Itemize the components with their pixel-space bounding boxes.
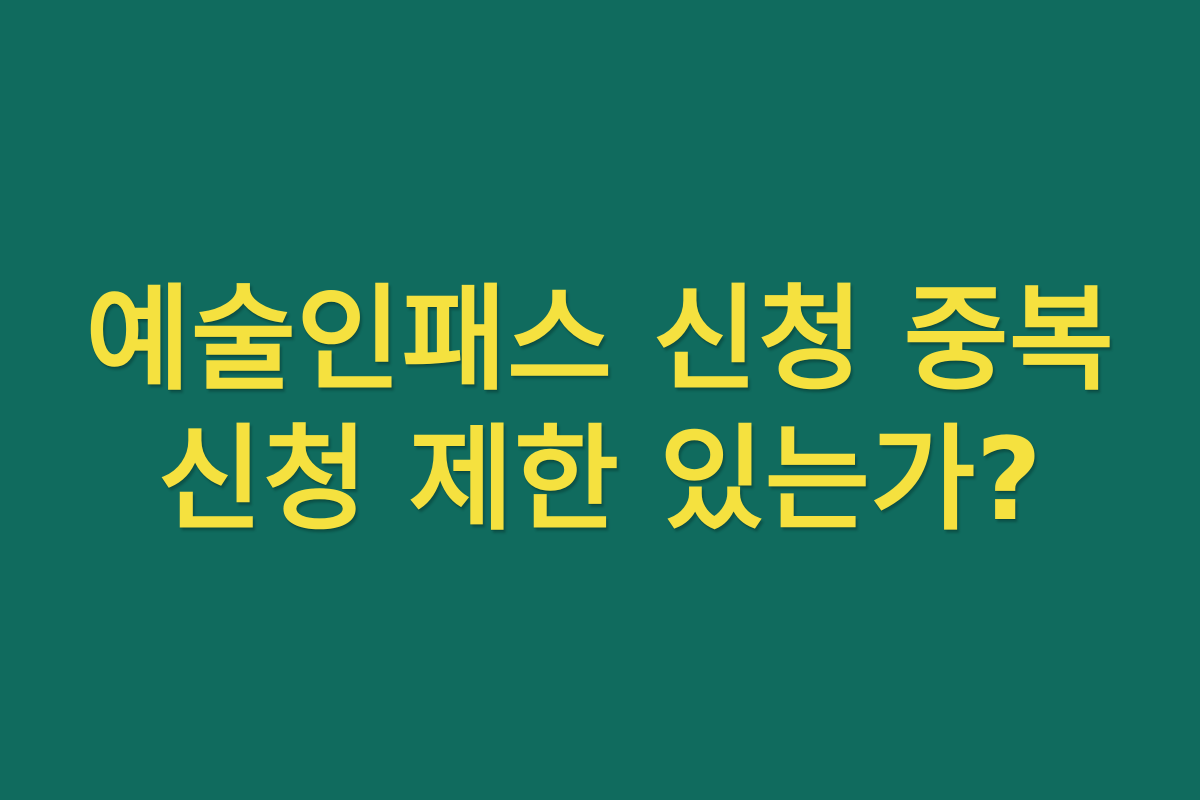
banner-headline: 예술인패스 신청 중복 신청 제한 있는가?	[70, 270, 1130, 550]
headline-block: 예술인패스 신청 중복 신청 제한 있는가?	[70, 270, 1130, 550]
text-banner: 예술인패스 신청 중복 신청 제한 있는가?	[0, 0, 1200, 800]
